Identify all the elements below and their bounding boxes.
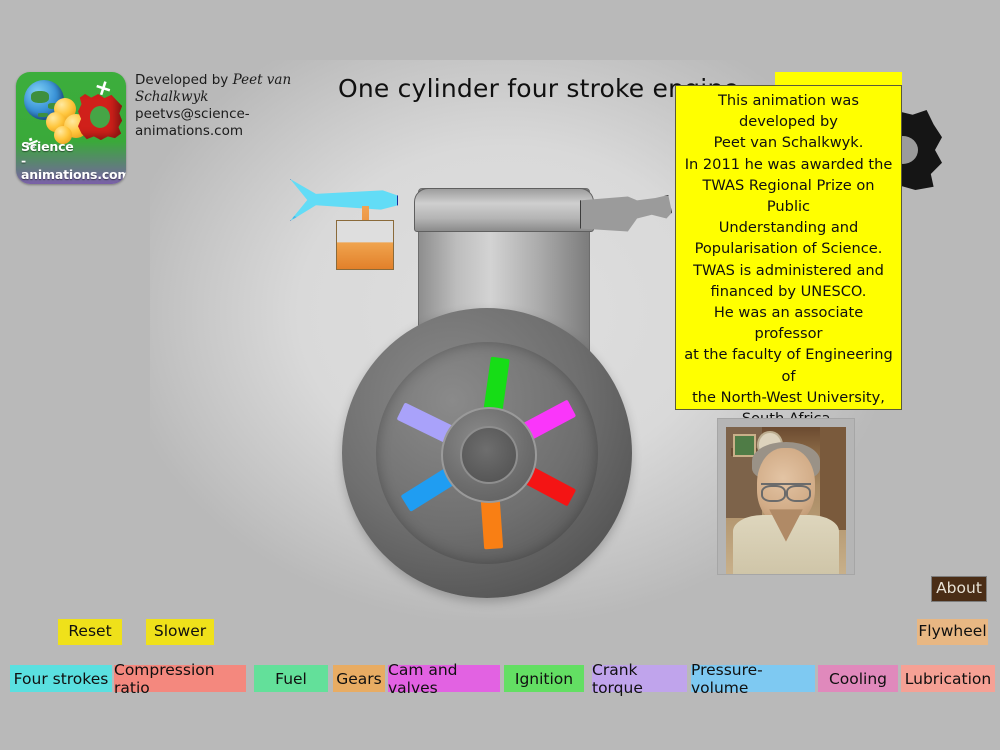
science-animations-logo[interactable]: + ÷ Science -animations.com <box>16 72 126 184</box>
about-panel-line: In 2011 he was awarded the <box>682 154 895 175</box>
portrait-bg-right <box>820 427 846 530</box>
logo-label: Science -animations.com <box>21 140 124 182</box>
about-panel-line: at the faculty of Engineering of <box>682 344 895 386</box>
topic-button-cooling[interactable]: Cooling <box>818 665 898 692</box>
author-email: peetvs@science-animations.com <box>135 106 345 140</box>
about-panel-line: TWAS Regional Prize on Public <box>682 175 895 217</box>
flywheel-inner <box>376 342 598 564</box>
topic-button-lubrication[interactable]: Lubrication <box>901 665 995 692</box>
logo-label-line2: -animations.com <box>21 154 124 182</box>
engine-illustration <box>280 150 700 580</box>
about-panel: This animation was developed byPeet van … <box>675 85 902 410</box>
topic-button-pressure-volume[interactable]: Pressure-volume <box>691 665 815 692</box>
about-button[interactable]: About <box>931 576 987 602</box>
topic-button-gears[interactable]: Gears <box>333 665 385 692</box>
topic-button-compression-ratio[interactable]: Compression ratio <box>114 665 246 692</box>
about-panel-line: Understanding and <box>682 217 895 238</box>
exhaust-pipe <box>580 195 672 233</box>
slower-button[interactable]: Slower <box>146 619 214 645</box>
topic-button-cam-and-valves[interactable]: Cam and valves <box>388 665 500 692</box>
cylinder-head <box>414 188 594 232</box>
air-intake-icon <box>290 178 398 222</box>
about-panel-line: Peet van Schalkwyk. <box>682 132 895 153</box>
about-panel-top-strip <box>775 72 902 85</box>
about-panel-line: This animation was developed by <box>682 90 895 132</box>
topic-button-ignition[interactable]: Ignition <box>504 665 584 692</box>
topic-button-four-strokes[interactable]: Four strokes <box>10 665 112 692</box>
glasses-icon <box>761 483 811 498</box>
topic-button-crank-torque[interactable]: Crank torque <box>592 665 687 692</box>
reset-button[interactable]: Reset <box>58 619 122 645</box>
flywheel[interactable] <box>342 308 632 598</box>
portrait-image <box>726 427 846 574</box>
developed-by-label: Developed by <box>135 72 228 88</box>
logo-label-line1: Science <box>21 140 124 154</box>
about-panel-line: the North-West University, <box>682 387 895 408</box>
about-panel-line: He was an associate professor <box>682 302 895 344</box>
about-panel-line: TWAS is administered and <box>682 260 895 281</box>
topic-button-fuel[interactable]: Fuel <box>254 665 328 692</box>
credit-block: Developed by Peet van Schalkwyk peetvs@s… <box>135 72 345 140</box>
about-panel-line: Popularisation of Science. <box>682 238 895 259</box>
about-panel-line: financed by UNESCO. <box>682 281 895 302</box>
fuel-bowl <box>336 220 394 270</box>
credit-line: Developed by Peet van Schalkwyk <box>135 72 345 106</box>
flywheel-button[interactable]: Flywheel <box>917 619 988 645</box>
animation-stage: + ÷ Science -animations.com Developed by… <box>0 0 1000 750</box>
author-portrait <box>717 418 855 575</box>
flywheel-hub <box>441 407 537 503</box>
